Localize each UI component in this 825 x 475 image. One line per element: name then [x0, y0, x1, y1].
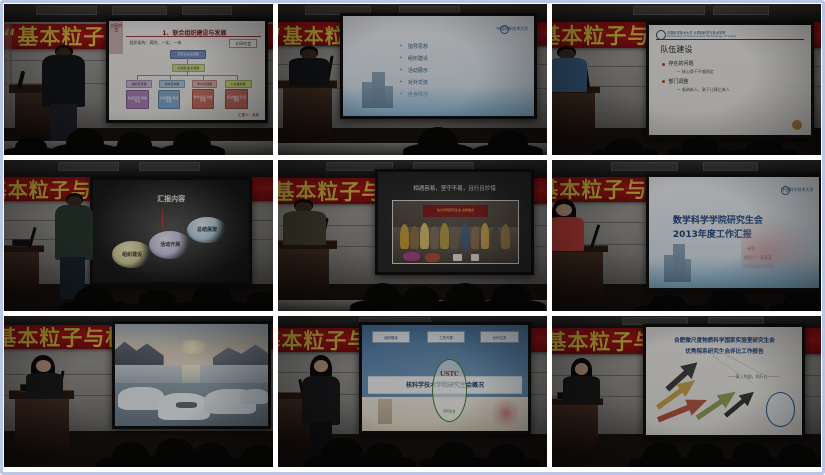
collage-panel-7[interactable]: “基本粒子与相互作用” 委员会联席 — [4, 316, 273, 467]
slide-tab-1: 组织建设 — [372, 331, 411, 343]
slide-logo-label: 中国科学技术大学 — [782, 187, 814, 193]
org-node-3-2: 文体活动部 — [159, 80, 184, 88]
org-node-3-4: 公共事务部 — [225, 80, 252, 88]
lecture-room-scene: “基本粒子与相互作用” 委员会联席 中国科学技术大学 ▪ 指导思想 — [278, 4, 547, 155]
slide-logo-label: 中国科学技术大学 — [496, 26, 528, 32]
lecture-room-scene: “基本粒子与相互作用” 委员会联席 相遇容易，坚守不易，且行且珍惜 信息学院研究… — [278, 160, 547, 311]
collage-grid: “基本粒子与相互作用” 委员会联席 五研究会 1、联合组织建设与发展 组织架构：… — [4, 4, 821, 471]
bullet-2-text: 部门调整 — [669, 78, 689, 85]
slide-tagline: ——事上勉励，知行合一—— — [728, 374, 780, 380]
slide-tab-2: 工作开展 — [427, 331, 466, 343]
audience — [4, 92, 273, 155]
agenda-item-3: 活动展示 — [408, 67, 428, 74]
bullet-1-text: 存在的问题 — [669, 60, 694, 67]
audience — [278, 248, 547, 311]
org-node-3-1: 组织宣传部 — [126, 80, 151, 88]
bullet-marker: ▪ — [400, 67, 402, 73]
org-node-3-3: 学术实践部 — [192, 80, 217, 88]
speaker-head — [575, 363, 588, 375]
audience — [552, 92, 821, 155]
lecture-room-scene: “基本粒子与相互作用” 中国科学技术大学 计算机科学与技术学院 Universi… — [552, 4, 821, 155]
lecture-room-scene: “基本粒子与相互作用” 委员会联席 五研究会 1、联合组织建设与发展 组织架构：… — [4, 4, 273, 155]
photo-banner-text: 信息学院研究生会 迎新晚会 — [423, 205, 488, 217]
audience — [278, 404, 547, 467]
audience — [4, 248, 273, 311]
lecture-room-scene: “基本粒子与相互作用” 中国科学技术大学 数学科学学院研究生会 2013年度工作… — [552, 160, 821, 311]
slide-subtitle: 组织架构：两院、一化、一体 — [130, 40, 182, 46]
collage-panel-2[interactable]: “基本粒子与相互作用” 委员会联席 中国科学技术大学 ▪ 指导思想 — [278, 4, 547, 155]
collage-panel-1[interactable]: “基本粒子与相互作用” 委员会联席 五研究会 1、联合组织建设与发展 组织架构：… — [4, 4, 273, 155]
speaker-head — [556, 204, 572, 216]
audience — [4, 404, 273, 467]
bullet-marker: ▪ — [400, 43, 402, 49]
lecture-room-scene: “基本粒子与相互作用” 委员会联席 合肥微尺度物质科学国家实验室研究生会 优秀院… — [552, 316, 821, 467]
collage-panel-9[interactable]: “基本粒子与相互作用” 委员会联席 合肥微尺度物质科学国家实验室研究生会 优秀院… — [552, 316, 821, 467]
agenda-item-1: 指导思想 — [408, 43, 428, 50]
photo-collage: “基本粒子与相互作用” 委员会联席 五研究会 1、联合组织建设与发展 组织架构：… — [0, 0, 825, 475]
audience — [552, 404, 821, 467]
slide-corner-tag: 五研究会 — [110, 24, 122, 38]
speaker-head — [36, 360, 51, 372]
lecture-room-scene: “基本粒子与相互作用” 委员会联席 组织建设 工作开展 对外交流 核科学技术学院… — [278, 316, 547, 467]
speaker-body — [552, 217, 584, 250]
speaker-body — [26, 373, 64, 397]
bullet-marker: ▪ — [400, 79, 402, 85]
speaker-body — [289, 58, 329, 85]
collage-panel-4[interactable]: “基本粒子与相互作用” 委员会联席 汇报内容 组织建设 活动开展 总结展望 — [4, 160, 273, 311]
lecture-room-scene: “基本粒子与相互作用” 委员会联席 汇报内容 组织建设 活动开展 总结展望 — [4, 160, 273, 311]
seal-text: USTC — [440, 371, 459, 378]
audience — [278, 92, 547, 155]
speaker-head — [314, 360, 327, 372]
audience — [552, 248, 821, 311]
collage-panel-8[interactable]: “基本粒子与相互作用” 委员会联席 组织建设 工作开展 对外交流 核科学技术学院… — [278, 316, 547, 467]
slide-title: 队伍建设 — [660, 44, 692, 55]
lecture-room-scene: “基本粒子与相互作用” 委员会联席 — [4, 316, 273, 467]
speaker-body — [552, 58, 587, 91]
org-node-level2: 主席团·副主席团 — [172, 64, 205, 72]
org-node-root: 研究生会主席团 — [170, 50, 206, 59]
agenda-item-2: 组织建设 — [408, 55, 428, 62]
collage-panel-6[interactable]: “基本粒子与相互作用” 中国科学技术大学 数学科学学院研究生会 2013年度工作… — [552, 160, 821, 311]
slide-caption: 相遇容易，坚守不易，且行且珍惜 — [413, 184, 496, 192]
slide-header-en: University of Science and Technology of … — [667, 34, 736, 38]
bullet-1-sub: — 核心骨干不够稳定 — [677, 69, 714, 75]
speaker-body — [283, 211, 326, 244]
collage-panel-3[interactable]: “基本粒子与相互作用” 中国科学技术大学 计算机科学与技术学院 Universi… — [552, 4, 821, 155]
speaker-body — [563, 376, 601, 403]
collage-panel-5[interactable]: “基本粒子与相互作用” 委员会联席 相遇容易，坚守不易，且行且珍惜 信息学院研究… — [278, 160, 547, 311]
slide-title-line1: 合肥微尺度物质科学国家实验室研究生会 — [656, 336, 793, 344]
slide-tab-3: 对外交流 — [480, 331, 519, 343]
slide-title: 汇报内容 — [157, 194, 185, 204]
slide-corner-box: 五研究会 — [229, 39, 258, 49]
bullet-marker: ▪ — [400, 55, 402, 61]
